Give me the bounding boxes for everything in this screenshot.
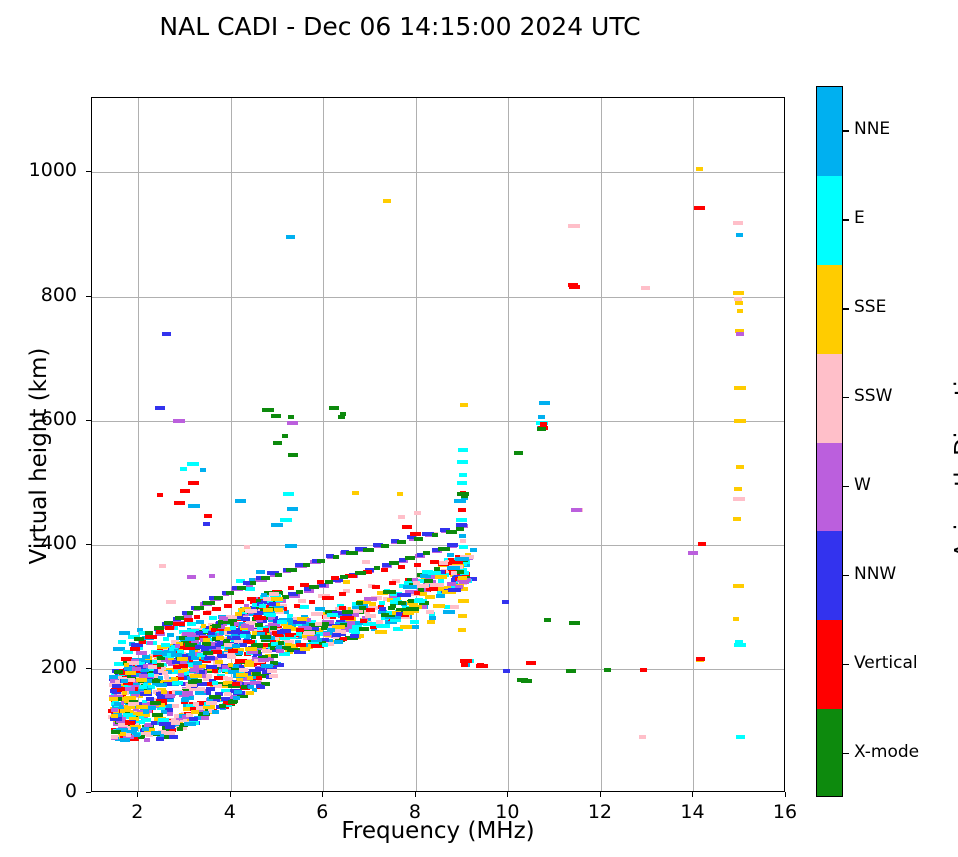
echo-mark — [182, 668, 187, 672]
echo-mark — [232, 644, 240, 648]
echo-mark — [209, 695, 221, 699]
echo-mark — [143, 710, 149, 714]
echo-mark — [156, 737, 164, 741]
echo-mark — [236, 673, 248, 677]
echo-mark — [456, 518, 467, 522]
echo-mark — [427, 620, 435, 624]
echo-mark — [228, 663, 233, 667]
echo-mark — [245, 660, 251, 664]
echo-mark — [438, 579, 444, 583]
echo-mark — [307, 636, 317, 640]
echo-mark — [237, 615, 243, 619]
echo-mark — [188, 481, 199, 485]
echo-mark — [329, 406, 339, 410]
echo-mark — [458, 628, 466, 632]
y-tick-label: 0 — [7, 780, 77, 802]
echo-mark — [544, 618, 551, 622]
echo-mark — [134, 637, 144, 641]
echo-mark — [148, 665, 157, 669]
echo-mark — [181, 698, 189, 702]
echo-mark — [383, 199, 391, 203]
echo-mark — [228, 649, 238, 653]
echo-mark — [271, 654, 278, 658]
echo-mark — [123, 713, 133, 717]
echo-mark — [267, 669, 277, 673]
echo-mark — [405, 556, 415, 560]
echo-mark — [162, 652, 167, 656]
echo-mark — [374, 566, 380, 570]
echo-mark — [152, 660, 157, 664]
echo-mark — [219, 704, 226, 708]
x-axis-label: Frequency (MHz) — [91, 818, 785, 844]
echo-mark — [230, 626, 236, 630]
echo-mark — [366, 608, 375, 612]
echo-mark — [187, 611, 193, 615]
echo-mark — [177, 727, 183, 731]
echo-mark — [256, 570, 265, 574]
gridline-horizontal — [92, 297, 784, 298]
echo-mark — [212, 710, 219, 714]
echo-mark — [155, 406, 165, 410]
echo-mark — [410, 620, 419, 624]
colorbar-segment-ssw[interactable] — [817, 354, 842, 443]
echo-mark — [109, 675, 118, 679]
echo-mark — [279, 652, 290, 656]
echo-mark — [195, 691, 204, 695]
echo-mark — [343, 580, 350, 584]
echo-mark — [193, 702, 199, 706]
x-tick-mark — [137, 792, 138, 797]
echo-mark — [127, 678, 135, 682]
echo-mark — [204, 514, 212, 518]
echo-mark — [503, 669, 510, 673]
echo-mark — [172, 681, 183, 685]
colorbar-tick-mark — [843, 308, 849, 309]
echo-mark — [163, 637, 169, 641]
x-tick-mark — [322, 792, 323, 797]
echo-mark — [203, 711, 209, 715]
echo-mark — [397, 492, 403, 496]
echo-mark — [196, 620, 204, 624]
echo-mark — [432, 533, 438, 537]
echo-mark — [146, 697, 154, 701]
echo-mark — [447, 566, 460, 570]
echo-mark — [460, 539, 466, 543]
echo-mark — [261, 664, 273, 668]
echo-mark — [443, 610, 455, 614]
echo-mark — [251, 635, 256, 639]
y-tick-mark — [86, 171, 91, 172]
echo-mark — [379, 607, 386, 611]
echo-mark — [252, 672, 261, 676]
echo-mark — [167, 698, 174, 702]
colorbar-tick-mark — [843, 219, 849, 220]
echo-mark — [355, 571, 366, 575]
echo-mark — [219, 654, 227, 658]
echo-mark — [414, 591, 420, 595]
echo-mark — [458, 599, 469, 603]
echo-mark — [410, 532, 421, 536]
echo-mark — [151, 731, 161, 735]
echo-mark — [538, 415, 545, 419]
echo-mark — [285, 633, 294, 637]
echo-mark — [297, 617, 307, 621]
echo-mark — [275, 573, 282, 577]
echo-mark — [258, 658, 269, 662]
echo-mark — [144, 690, 151, 694]
echo-mark — [263, 608, 273, 612]
echo-mark — [456, 527, 464, 531]
echo-mark — [189, 717, 198, 721]
echo-mark — [439, 561, 448, 565]
colorbar-label-vertical: Vertical — [854, 653, 918, 673]
echo-mark — [212, 681, 218, 685]
echo-mark — [269, 674, 278, 678]
echo-mark — [283, 492, 294, 496]
echo-mark — [122, 691, 127, 695]
echo-mark — [273, 441, 282, 445]
echo-mark — [118, 640, 126, 644]
echo-mark — [183, 707, 190, 711]
echo-mark — [200, 468, 206, 472]
echo-mark — [187, 622, 196, 626]
echo-mark — [203, 651, 213, 655]
echo-mark — [245, 609, 257, 613]
colorbar-segment-w[interactable] — [817, 443, 842, 532]
echo-mark — [206, 665, 217, 669]
page-title: NAL CADI - Dec 06 14:15:00 2024 UTC — [0, 12, 800, 41]
echo-mark — [458, 508, 466, 512]
echo-mark — [450, 605, 459, 609]
echo-mark — [188, 504, 200, 508]
echo-mark — [734, 643, 746, 647]
echo-mark — [131, 727, 138, 731]
echo-mark — [736, 233, 743, 237]
echo-mark — [203, 611, 211, 615]
echo-mark — [271, 414, 281, 418]
y-axis-label: Virtual height (km) — [26, 301, 52, 611]
echo-mark — [206, 687, 215, 691]
echo-mark — [334, 640, 343, 644]
echo-mark — [173, 419, 185, 423]
echo-mark — [179, 664, 188, 668]
echo-mark — [340, 616, 354, 620]
echo-mark — [235, 600, 244, 604]
echo-mark — [159, 564, 166, 568]
echo-mark — [121, 679, 128, 683]
echo-mark — [148, 673, 154, 677]
echo-mark — [194, 615, 200, 619]
echo-mark — [165, 626, 174, 630]
echo-mark — [264, 635, 271, 639]
echo-mark — [235, 499, 246, 503]
echo-mark — [206, 701, 217, 705]
echo-mark — [164, 621, 173, 625]
echo-mark — [323, 632, 330, 636]
echo-mark — [234, 622, 239, 626]
echo-mark — [196, 631, 203, 635]
colorbar-segment-nnw[interactable] — [817, 531, 842, 620]
echo-mark — [197, 687, 205, 691]
echo-mark — [190, 674, 202, 678]
echo-mark — [271, 523, 283, 527]
echo-mark — [300, 647, 310, 651]
echo-mark — [696, 167, 703, 171]
echo-mark — [568, 224, 580, 228]
echo-mark — [398, 515, 405, 519]
echo-mark — [152, 713, 163, 717]
echo-mark — [340, 575, 348, 579]
echo-mark — [736, 735, 745, 739]
colorbar-segment-vertical[interactable] — [817, 620, 842, 709]
echo-mark — [414, 563, 421, 567]
echo-mark — [219, 631, 224, 635]
echo-mark — [241, 624, 249, 628]
echo-mark — [262, 408, 274, 412]
echo-mark — [397, 540, 406, 544]
echo-mark — [165, 725, 175, 729]
y-tick-mark — [86, 420, 91, 421]
y-tick-label: 1000 — [7, 159, 77, 181]
echo-mark — [359, 606, 366, 610]
echo-mark — [414, 537, 423, 541]
echo-mark — [215, 660, 223, 664]
echo-mark — [339, 592, 346, 596]
echo-mark — [426, 610, 434, 614]
echo-mark — [161, 690, 167, 694]
echo-mark — [412, 625, 419, 629]
echo-mark — [193, 661, 202, 665]
echo-mark — [733, 291, 744, 295]
echo-mark — [224, 643, 231, 647]
echo-mark — [458, 576, 467, 580]
echo-mark — [414, 599, 425, 603]
echo-mark — [342, 610, 353, 614]
echo-mark — [270, 626, 277, 630]
echo-mark — [413, 581, 420, 585]
echo-mark — [734, 386, 746, 390]
echo-mark — [161, 643, 170, 647]
echo-mark — [571, 508, 582, 512]
echo-mark — [372, 585, 380, 589]
echo-mark — [145, 635, 157, 639]
echo-mark — [261, 576, 270, 580]
echo-mark — [455, 557, 469, 561]
echo-mark — [277, 620, 287, 624]
echo-mark — [224, 692, 231, 696]
echo-mark — [398, 565, 405, 569]
echo-mark — [363, 548, 374, 552]
echo-mark — [317, 580, 324, 584]
echo-mark — [147, 641, 153, 645]
echo-mark — [212, 624, 221, 628]
colorbar[interactable] — [816, 86, 843, 797]
echo-mark — [457, 460, 468, 464]
echo-mark — [640, 668, 647, 672]
echo-mark — [438, 587, 444, 591]
echo-mark — [436, 594, 445, 598]
echo-mark — [461, 663, 468, 667]
echo-mark — [201, 624, 206, 628]
echo-mark — [203, 522, 210, 526]
plot-area[interactable] — [91, 97, 785, 792]
echo-mark — [688, 551, 698, 555]
echo-mark — [216, 636, 224, 640]
echo-mark — [114, 702, 121, 706]
echo-mark — [167, 712, 173, 716]
echo-mark — [255, 623, 263, 627]
echo-mark — [237, 586, 246, 590]
echo-mark — [185, 637, 195, 641]
echo-mark — [359, 627, 369, 631]
echo-mark — [215, 643, 221, 647]
gridline-horizontal — [92, 421, 784, 422]
echo-mark — [459, 534, 466, 538]
echo-mark — [360, 619, 367, 623]
colorbar-segment-nne[interactable] — [817, 87, 842, 176]
colorbar-segment-e[interactable] — [817, 176, 842, 265]
colorbar-segment-sse[interactable] — [817, 265, 842, 354]
echo-mark — [239, 668, 248, 672]
echo-mark — [340, 412, 346, 416]
echo-mark — [175, 644, 180, 648]
x-tick-mark — [507, 792, 508, 797]
echo-mark — [162, 671, 168, 675]
echo-mark — [191, 710, 199, 714]
echo-mark — [364, 597, 377, 601]
ionogram-figure: NAL CADI - Dec 06 14:15:00 2024 UTC 2468… — [0, 0, 958, 857]
echo-mark — [152, 679, 160, 683]
echo-mark — [269, 602, 276, 606]
echo-mark — [698, 542, 706, 546]
colorbar-segment-x-mode[interactable] — [817, 709, 842, 797]
echo-mark — [199, 670, 205, 674]
echo-mark — [125, 721, 135, 725]
echo-mark — [259, 604, 266, 608]
echo-mark — [459, 545, 468, 549]
x-tick-mark — [600, 792, 601, 797]
echo-mark — [423, 551, 430, 555]
echo-mark — [517, 678, 528, 682]
echo-mark — [356, 589, 362, 593]
echo-mark — [136, 678, 147, 682]
echo-mark — [294, 604, 300, 608]
echo-mark — [327, 613, 338, 617]
gridline-vertical — [416, 98, 417, 791]
echo-mark — [276, 649, 284, 653]
echo-mark — [733, 497, 745, 501]
echo-mark — [458, 448, 468, 452]
echo-mark — [733, 221, 743, 225]
echo-mark — [262, 649, 272, 653]
echo-mark — [244, 545, 250, 549]
echo-mark — [459, 473, 467, 477]
echo-mark — [180, 467, 187, 471]
echo-mark — [156, 683, 167, 687]
echo-mark — [454, 499, 466, 503]
echo-mark — [414, 511, 421, 515]
echo-mark — [136, 705, 148, 709]
echo-mark — [514, 451, 523, 455]
echo-mark — [224, 604, 232, 608]
echo-mark — [174, 714, 179, 718]
x-tick-mark — [692, 792, 693, 797]
echo-mark — [322, 643, 328, 647]
echo-mark — [461, 494, 468, 498]
echo-mark — [296, 590, 303, 594]
echo-mark — [456, 570, 464, 574]
echo-mark — [569, 621, 580, 625]
echo-mark — [298, 599, 306, 603]
echo-mark — [537, 427, 546, 431]
echo-mark — [171, 653, 182, 657]
echo-mark — [154, 626, 164, 630]
colorbar-title: Azimuth Direction — [951, 295, 958, 615]
echo-mark — [397, 593, 411, 597]
echo-mark — [228, 700, 237, 704]
echo-mark — [214, 676, 223, 680]
gridline-vertical — [323, 98, 324, 791]
colorbar-label-nnw: NNW — [854, 564, 896, 584]
echo-mark — [352, 491, 359, 495]
echo-mark — [383, 590, 396, 594]
colorbar-tick-mark — [843, 486, 849, 487]
echo-mark — [296, 628, 304, 632]
echo-mark — [145, 631, 153, 635]
echo-mark — [211, 628, 216, 632]
echo-mark — [735, 640, 743, 644]
echo-mark — [433, 604, 445, 608]
echo-mark — [400, 625, 412, 629]
echo-mark — [470, 548, 477, 552]
echo-mark — [325, 580, 333, 584]
echo-mark — [300, 583, 309, 587]
echo-mark — [362, 560, 370, 564]
echo-mark — [172, 704, 179, 708]
echo-mark — [175, 691, 182, 695]
echo-mark — [142, 718, 151, 722]
echo-mark — [460, 659, 472, 663]
echo-mark — [278, 641, 284, 645]
gridline-horizontal — [92, 172, 784, 173]
gridline-vertical — [601, 98, 602, 791]
echo-mark — [245, 647, 257, 651]
colorbar-tick-mark — [843, 753, 849, 754]
colorbar-label-sse: SSE — [854, 297, 886, 317]
echo-mark — [157, 663, 164, 667]
echo-mark — [604, 668, 611, 672]
colorbar-label-nne: NNE — [854, 119, 890, 139]
echo-mark — [184, 722, 196, 726]
echo-mark — [209, 574, 215, 578]
echo-mark — [381, 544, 389, 548]
y-tick-label: 200 — [7, 656, 77, 678]
echo-mark — [130, 647, 140, 651]
y-tick-mark — [86, 296, 91, 297]
echo-mark — [381, 568, 388, 572]
echo-mark — [309, 600, 315, 604]
echo-mark — [417, 553, 423, 557]
echo-mark — [248, 685, 254, 689]
echo-mark — [177, 657, 188, 661]
echo-mark — [736, 332, 744, 336]
echo-mark — [569, 285, 580, 289]
echo-mark — [303, 631, 315, 635]
echo-mark — [382, 613, 389, 617]
echo-mark — [694, 206, 705, 210]
echo-mark — [398, 601, 406, 605]
echo-mark — [286, 568, 297, 572]
